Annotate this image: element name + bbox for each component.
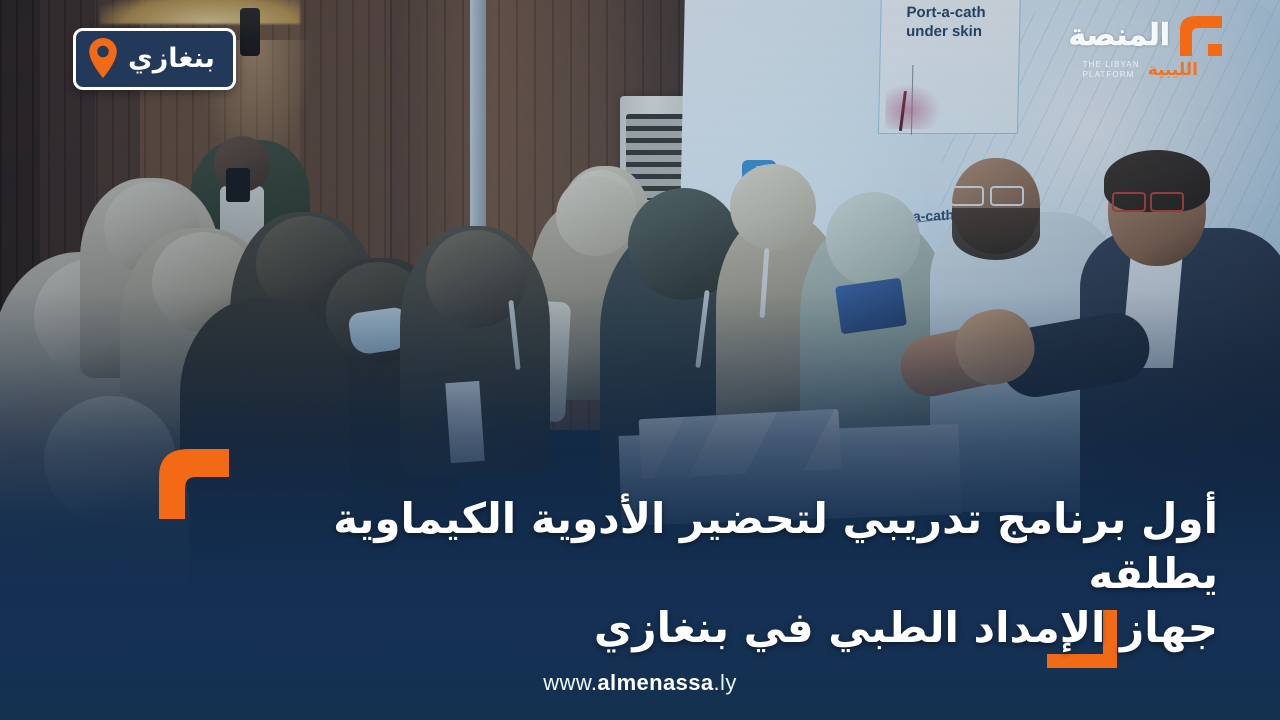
almenassa-logo[interactable]: المنصة THE LIBYAN PLATFORM الليبية (1034, 14, 1224, 92)
logo-latin-line1: THE LIBYAN (1083, 60, 1140, 69)
logo-arabic-name: المنصة (1068, 21, 1170, 51)
headline-line-1: أول برنامج تدريبي لتحضير الأدوية الكيماو… (333, 494, 1218, 598)
url-prefix: www. (543, 670, 597, 695)
logo-latin-line2: PLATFORM (1083, 70, 1135, 79)
url-tld: .ly (714, 670, 737, 695)
map-pin-icon (88, 38, 118, 78)
logo-primary-row: المنصة (1068, 14, 1224, 58)
location-badge[interactable]: بنغازي (73, 28, 236, 90)
logo-bracket-mark-icon (1178, 14, 1224, 58)
website-url[interactable]: www.almenassa.ly (0, 670, 1280, 696)
logo-arabic-sub: الليبية (1148, 62, 1198, 79)
headline: أول برنامج تدريبي لتحضير الأدوية الكيماو… (208, 492, 1218, 656)
url-brand: almenassa (597, 670, 713, 695)
logo-latin-text: THE LIBYAN PLATFORM (1083, 60, 1140, 80)
logo-secondary-row: THE LIBYAN PLATFORM الليبية (1083, 60, 1198, 80)
location-label: بنغازي (128, 45, 215, 72)
headline-line-2: جهاز الإمداد الطبي في بنغازي (208, 601, 1218, 656)
news-card: Port-a-cath under skin Port-a-cath (0, 0, 1280, 720)
